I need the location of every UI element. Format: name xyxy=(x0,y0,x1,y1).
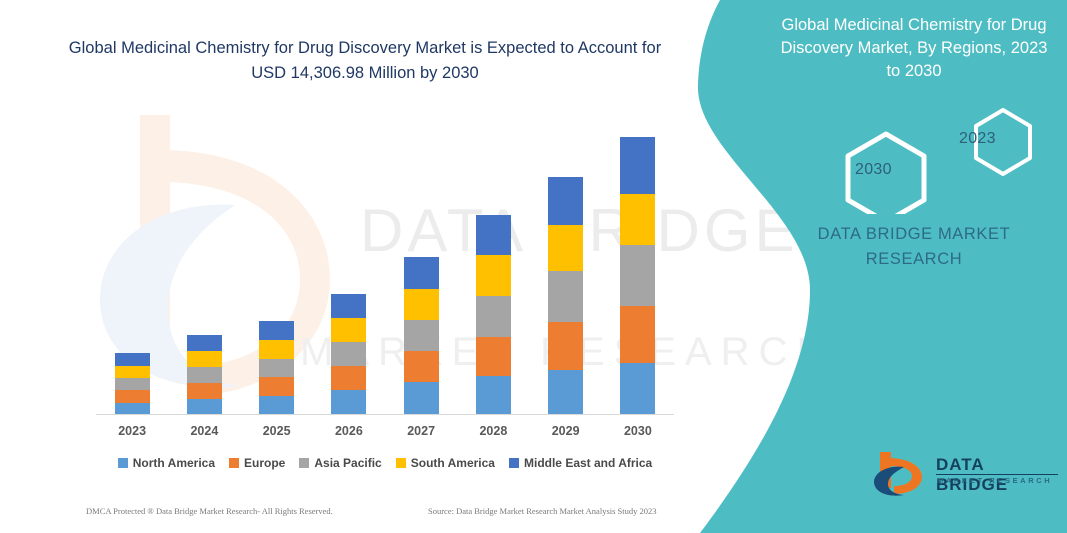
data-bridge-logo: DATA BRIDGE MARKET RESEARCH xyxy=(870,448,1060,508)
legend-swatch-icon xyxy=(299,458,309,468)
x-axis-tick-2028: 2028 xyxy=(457,424,529,438)
teal-panel-content: Global Medicinal Chemistry for Drug Disc… xyxy=(760,0,1067,533)
bar-segment xyxy=(404,289,439,320)
bar-segment xyxy=(548,370,583,415)
x-axis-tick-2027: 2027 xyxy=(385,424,457,438)
bar-segment xyxy=(331,366,366,390)
logo-subtitle: MARKET RESEARCH xyxy=(937,476,1052,485)
hexagon-2023-label: 2023 xyxy=(959,130,996,148)
bar-segment xyxy=(476,255,511,296)
bar-segment xyxy=(187,335,222,351)
x-axis-labels: 20232024202520262027202820292030 xyxy=(96,424,674,446)
legend-item: Middle East and Africa xyxy=(509,456,652,470)
chart-title: Global Medicinal Chemistry for Drug Disc… xyxy=(55,36,675,86)
logo-divider xyxy=(936,474,1058,475)
legend-item: Europe xyxy=(229,456,285,470)
bar-segment xyxy=(187,383,222,399)
footer-copyright: DMCA Protected ® Data Bridge Market Rese… xyxy=(86,506,333,516)
legend-swatch-icon xyxy=(118,458,128,468)
panel-brand-text: DATA BRIDGE MARKET RESEARCH xyxy=(776,222,1052,272)
bar-segment xyxy=(259,377,294,396)
bar-segment xyxy=(331,342,366,366)
legend-swatch-icon xyxy=(229,458,239,468)
legend-item: Asia Pacific xyxy=(299,456,381,470)
bar-segment xyxy=(404,351,439,382)
legend-label: Middle East and Africa xyxy=(524,456,652,470)
bar-segment xyxy=(115,390,150,403)
x-axis-tick-2024: 2024 xyxy=(168,424,240,438)
bar-segment xyxy=(259,340,294,359)
bar-group-2029 xyxy=(530,177,602,415)
bar-group-2025 xyxy=(241,321,313,415)
x-axis-tick-2029: 2029 xyxy=(530,424,602,438)
footer-source: Source: Data Bridge Market Research Mark… xyxy=(428,506,657,516)
bar-segment xyxy=(187,351,222,367)
bar-segment xyxy=(548,177,583,225)
bar-segment xyxy=(187,367,222,383)
bar-group-2024 xyxy=(168,335,240,415)
bar-segment xyxy=(548,271,583,322)
legend-label: Europe xyxy=(244,456,285,470)
hexagons-icon xyxy=(808,104,1038,214)
bar-segment xyxy=(115,353,150,366)
bar-group-2028 xyxy=(457,215,529,415)
bar-segment xyxy=(548,225,583,271)
bar-segment xyxy=(404,320,439,351)
chart-legend: North AmericaEuropeAsia PacificSouth Ame… xyxy=(96,456,674,470)
bar-segment xyxy=(404,257,439,289)
bar-segment xyxy=(331,318,366,342)
bar-segment xyxy=(548,322,583,370)
bar-segment xyxy=(476,337,511,376)
bar-segment xyxy=(620,245,655,306)
bar-segment xyxy=(331,390,366,415)
chart-panel: DATA BRIDGE MARKET RESEARCH Global Medic… xyxy=(0,0,720,533)
bar-segment xyxy=(620,306,655,363)
logo-title: DATA BRIDGE xyxy=(936,455,1060,495)
hexagon-2030-label: 2030 xyxy=(855,161,892,179)
x-axis-tick-2025: 2025 xyxy=(241,424,313,438)
bar-segment xyxy=(620,194,655,245)
legend-label: Asia Pacific xyxy=(314,456,381,470)
x-axis-line xyxy=(96,414,674,415)
bar-segment xyxy=(187,399,222,415)
bar-segment xyxy=(476,215,511,255)
legend-swatch-icon xyxy=(509,458,519,468)
data-bridge-mark-icon xyxy=(870,448,930,500)
bar-segment xyxy=(404,382,439,415)
bar-segment xyxy=(115,366,150,378)
stacked-bar-chart xyxy=(96,110,674,415)
x-axis-tick-2026: 2026 xyxy=(313,424,385,438)
legend-item: North America xyxy=(118,456,215,470)
bar-group-2023 xyxy=(96,353,168,415)
bar-segment xyxy=(476,296,511,337)
bar-segment xyxy=(259,396,294,415)
legend-label: South America xyxy=(411,456,495,470)
bar-segment xyxy=(115,378,150,390)
x-axis-tick-2023: 2023 xyxy=(96,424,168,438)
hexagon-group: 2030 2023 xyxy=(808,104,1038,214)
panel-title: Global Medicinal Chemistry for Drug Disc… xyxy=(776,14,1052,83)
bar-segment xyxy=(259,321,294,340)
bar-segment xyxy=(331,294,366,318)
legend-swatch-icon xyxy=(396,458,406,468)
infographic-root: DATA BRIDGE MARKET RESEARCH Global Medic… xyxy=(0,0,1067,533)
bar-group-2027 xyxy=(385,257,457,415)
legend-label: North America xyxy=(133,456,215,470)
bar-segment xyxy=(620,137,655,194)
bar-group-2026 xyxy=(313,294,385,415)
legend-item: South America xyxy=(396,456,495,470)
bar-segment xyxy=(259,359,294,377)
bar-segment xyxy=(620,363,655,415)
bar-segment xyxy=(476,376,511,415)
